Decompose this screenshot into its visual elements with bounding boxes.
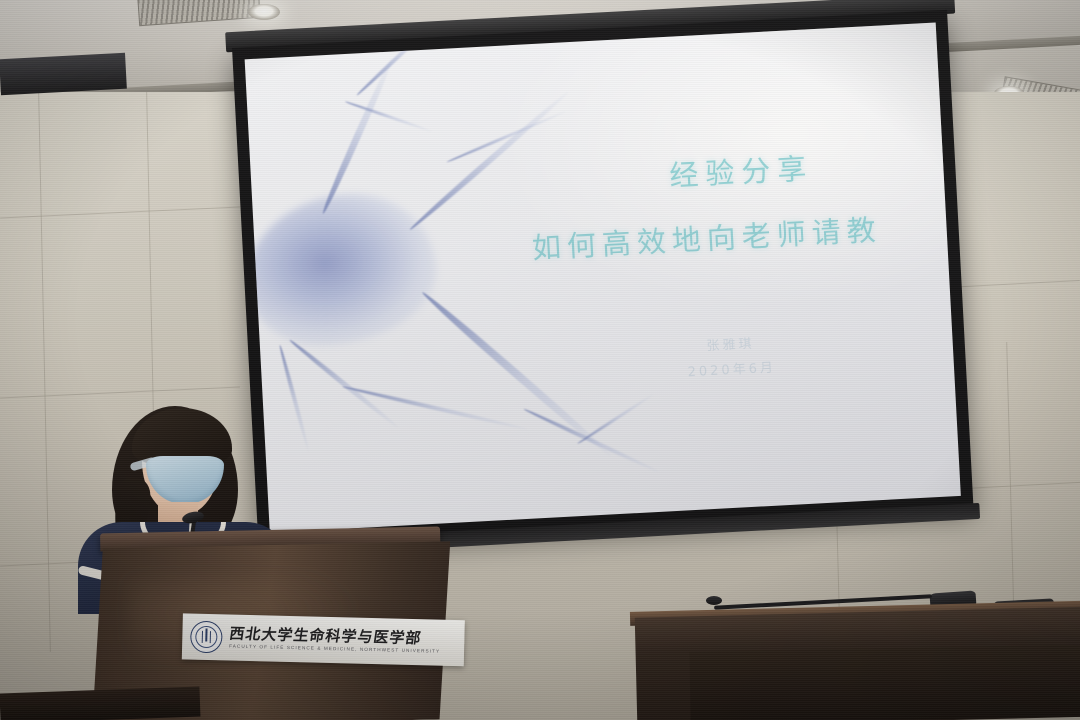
neuron-dendrite (523, 407, 661, 474)
neuron-illustration (245, 23, 751, 533)
lecture-hall-photo: 经验分享 如何高效地向老师请教 张雅琪 2020年6月 (0, 0, 1080, 720)
neuron-dendrite (577, 393, 654, 445)
neuron-dendrite (320, 57, 395, 215)
slide-title-block: 经验分享 如何高效地向老师请教 (551, 143, 936, 266)
screen-frame: 经验分享 如何高效地向老师请教 张雅琪 2020年6月 (232, 10, 973, 545)
neuron-dendrite (408, 90, 570, 232)
conference-chair-back (0, 0, 94, 59)
banner-text: 西北大学生命科学与医学部 FACULTY OF LIFE SCIENCE & M… (229, 626, 441, 654)
mic-capsule (706, 596, 722, 605)
panel-seam (0, 207, 240, 219)
screen-surface: 经验分享 如何高效地向老师请教 张雅琪 2020年6月 (245, 23, 961, 533)
panel-seam (38, 92, 51, 652)
ceiling-downlight (248, 4, 280, 20)
conference-table-front (689, 645, 1080, 720)
university-crest-icon (190, 621, 223, 654)
neuron-dendrite (288, 338, 400, 430)
podium-banner: 西北大学生命科学与医学部 FACULTY OF LIFE SCIENCE & M… (182, 613, 465, 666)
projection-screen: 经验分享 如何高效地向老师请教 张雅琪 2020年6月 (232, 10, 975, 575)
neuron-soma (245, 190, 440, 350)
front-table-left (0, 687, 200, 720)
neuron-dendrite (446, 110, 567, 164)
conference-chair-back (0, 53, 127, 96)
panel-seam (1006, 342, 1015, 632)
panel-seam (0, 387, 240, 399)
